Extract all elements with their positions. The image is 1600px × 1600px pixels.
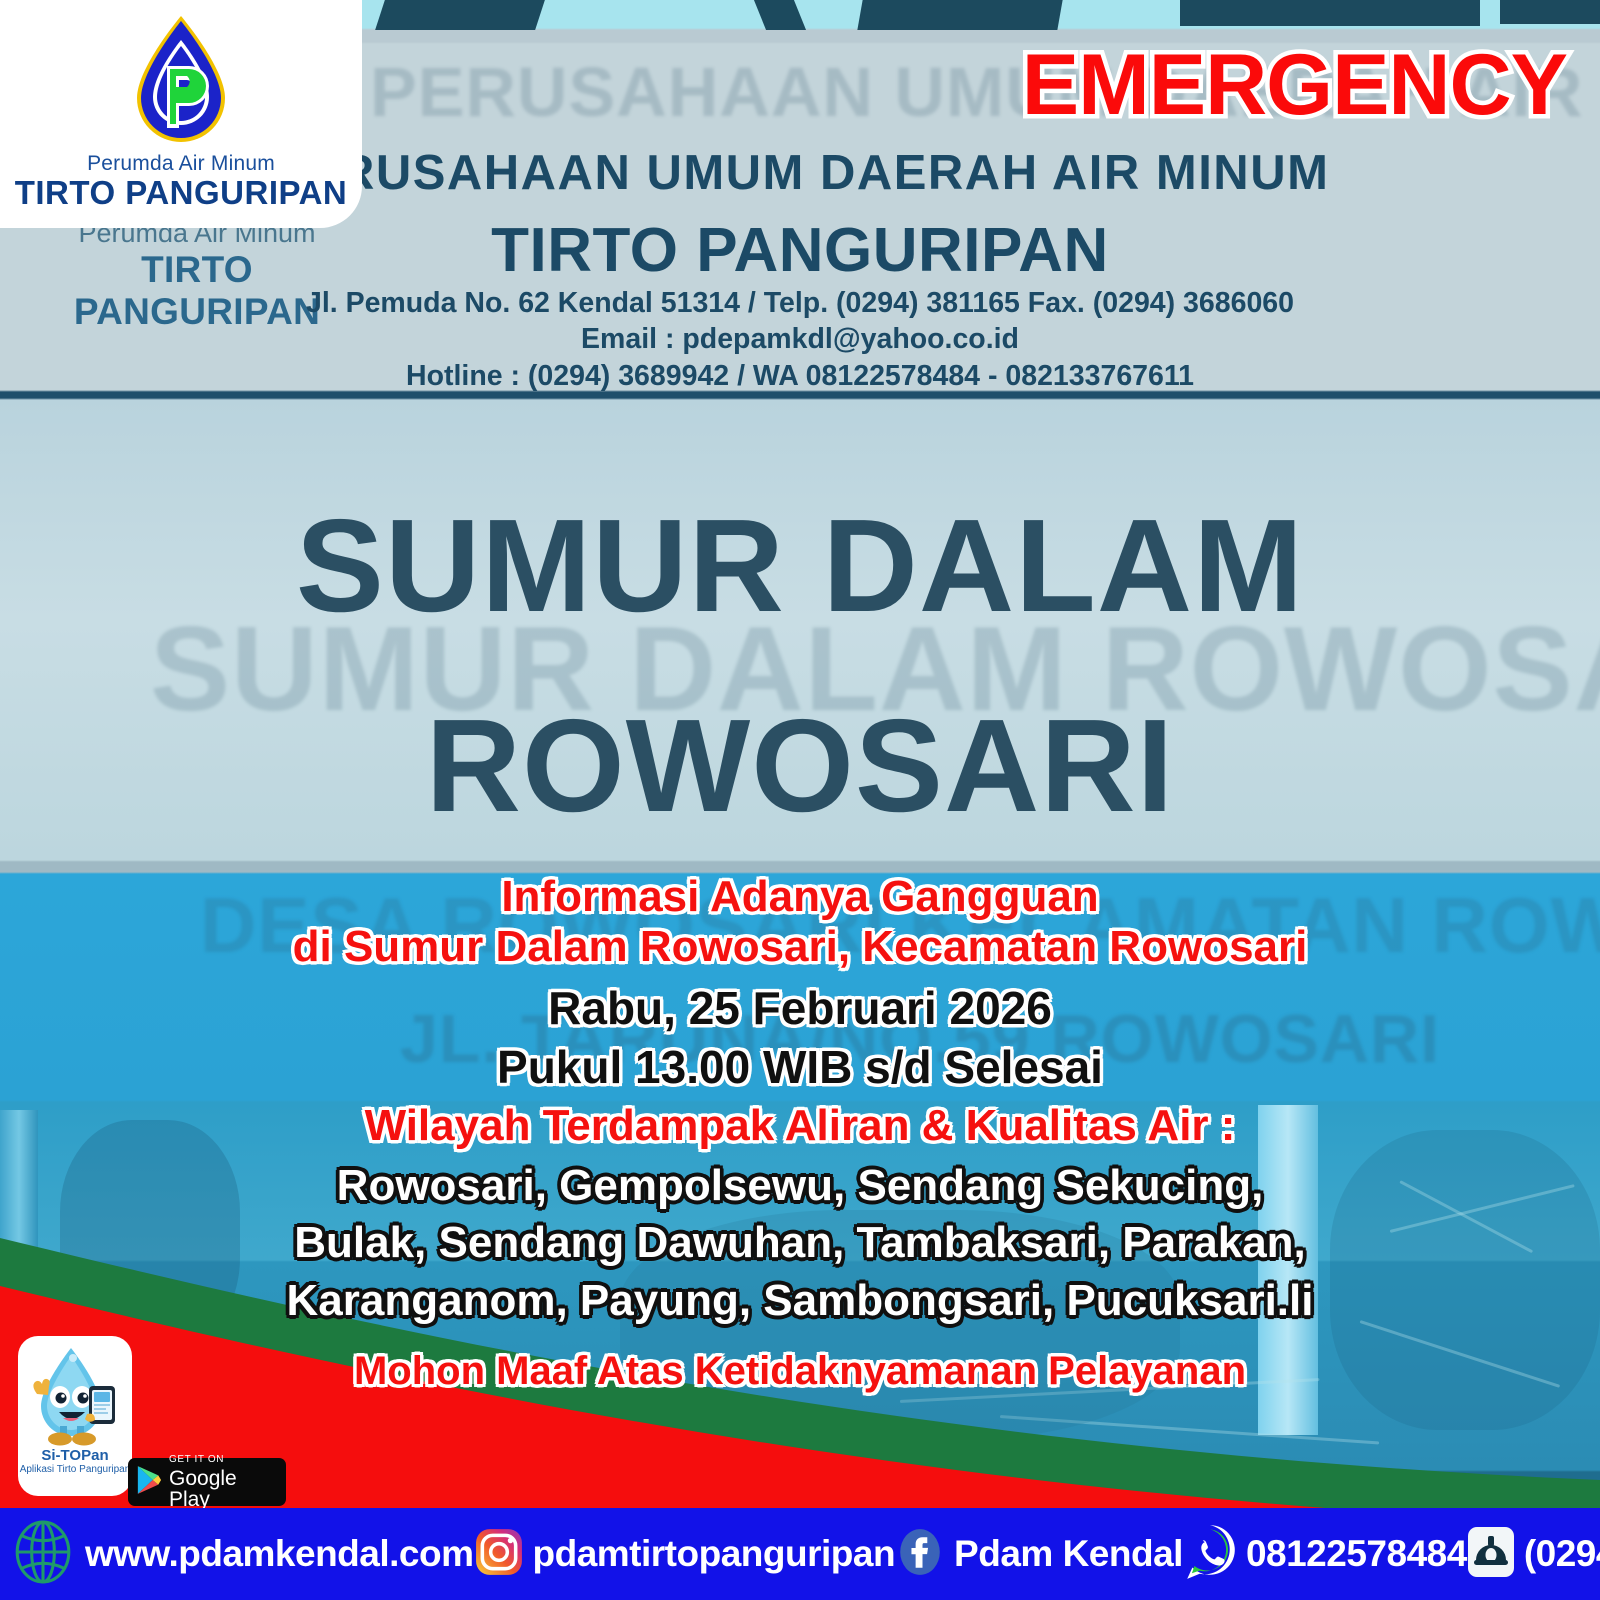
announcement-date: Rabu, 25 Februari 2026	[0, 979, 1600, 1038]
affected-areas-line: Bulak, Sendang Dawuhan, Tambaksari, Para…	[0, 1214, 1600, 1271]
signboard-contact-block: Jl. Pemuda No. 62 Kendal 51314 / Telp. (…	[0, 285, 1600, 394]
apology-text: Mohon Maaf Atas Ketidaknyamanan Pelayana…	[0, 1349, 1600, 1394]
footer-phone-text: (0294) 3689942	[1524, 1533, 1600, 1575]
affected-areas-line: Karanganom, Payung, Sambongsari, Pucuksa…	[0, 1272, 1600, 1329]
google-play-icon	[136, 1465, 162, 1500]
facebook-icon	[895, 1527, 945, 1582]
footer-contact-bar: www.pdamkendal.com	[0, 1508, 1600, 1600]
telephone-icon	[1467, 1526, 1515, 1583]
instagram-icon	[474, 1527, 524, 1582]
emergency-badge: EMERGENCY	[1022, 42, 1567, 128]
signboard-title-line2: ROWOSARI	[0, 700, 1600, 832]
signboard-hotline: Hotline : (0294) 3689942 / WA 0812257848…	[0, 358, 1600, 394]
footer-website-item[interactable]: www.pdamkendal.com	[10, 1519, 474, 1590]
announcement-block: Informasi Adanya Gangguan di Sumur Dalam…	[0, 872, 1600, 1394]
whatsapp-icon	[1183, 1523, 1237, 1586]
brand-logo-title: TIRTO PANGURIPAN	[15, 176, 348, 211]
footer-phone-item[interactable]: (0294) 3689942	[1467, 1526, 1600, 1583]
footer-whatsapp-text: 08122578484	[1246, 1533, 1467, 1575]
announcement-time: Pukul 13.00 WIB s/d Selesai	[0, 1038, 1600, 1097]
headline-line2: di Sumur Dalam Rowosari, Kecamatan Rowos…	[0, 922, 1600, 972]
globe-icon	[10, 1519, 76, 1590]
roof-fixture	[375, 0, 545, 30]
app-badge-tagline: Aplikasi Tirto Panguripan	[20, 1464, 131, 1475]
signboard-title-line1: SUMUR DALAM	[0, 500, 1600, 632]
footer-facebook-item[interactable]: Pdam Kendal	[895, 1527, 1183, 1582]
brand-logo-card: Perumda Air Minum TIRTO PANGURIPAN	[0, 0, 362, 228]
roof-fixture	[857, 0, 1062, 30]
roof-fixture	[1500, 0, 1600, 24]
brand-logo-subtitle: Perumda Air Minum	[87, 152, 275, 176]
footer-website-text: www.pdamkendal.com	[85, 1533, 474, 1575]
footer-instagram-text: pdamtirtopanguripan	[533, 1533, 896, 1575]
google-play-line1: GET IT ON	[169, 1455, 278, 1465]
si-topan-mascot-icon	[27, 1342, 123, 1446]
headline-line1: Informasi Adanya Gangguan	[0, 872, 1600, 922]
footer-whatsapp-item[interactable]: 08122578484	[1183, 1523, 1467, 1586]
google-play-label: GET IT ON Google Play	[169, 1455, 278, 1510]
si-topan-app-badge[interactable]: Si-TOPan Aplikasi Tirto Panguripan	[18, 1336, 132, 1496]
roof-fixture	[754, 0, 806, 30]
signboard-email: Email : pdepamkdl@yahoo.co.id	[0, 321, 1600, 357]
app-badge-name: Si-TOPan	[41, 1447, 108, 1464]
roof-fixture	[1180, 0, 1480, 26]
affected-areas-list: Rowosari, Gempolsewu, Sendang Sekucing, …	[0, 1157, 1600, 1329]
water-drop-p-logo-icon	[121, 10, 241, 150]
google-play-line2: Google Play	[169, 1468, 278, 1510]
announcement-headline: Informasi Adanya Gangguan di Sumur Dalam…	[0, 872, 1600, 971]
footer-facebook-text: Pdam Kendal	[954, 1533, 1183, 1575]
footer-instagram-item[interactable]: pdamtirtopanguripan	[474, 1527, 896, 1582]
affected-areas-label: Wilayah Terdampak Aliran & Kualitas Air …	[0, 1101, 1600, 1151]
signboard-address: Jl. Pemuda No. 62 Kendal 51314 / Telp. (…	[0, 285, 1600, 321]
poster-root: PERUSAHAAN UMUM DAERAH AIR MINUM SUMUR D…	[0, 0, 1600, 1600]
google-play-button[interactable]: GET IT ON Google Play	[128, 1458, 286, 1506]
affected-areas-line: Rowosari, Gempolsewu, Sendang Sekucing,	[0, 1157, 1600, 1214]
